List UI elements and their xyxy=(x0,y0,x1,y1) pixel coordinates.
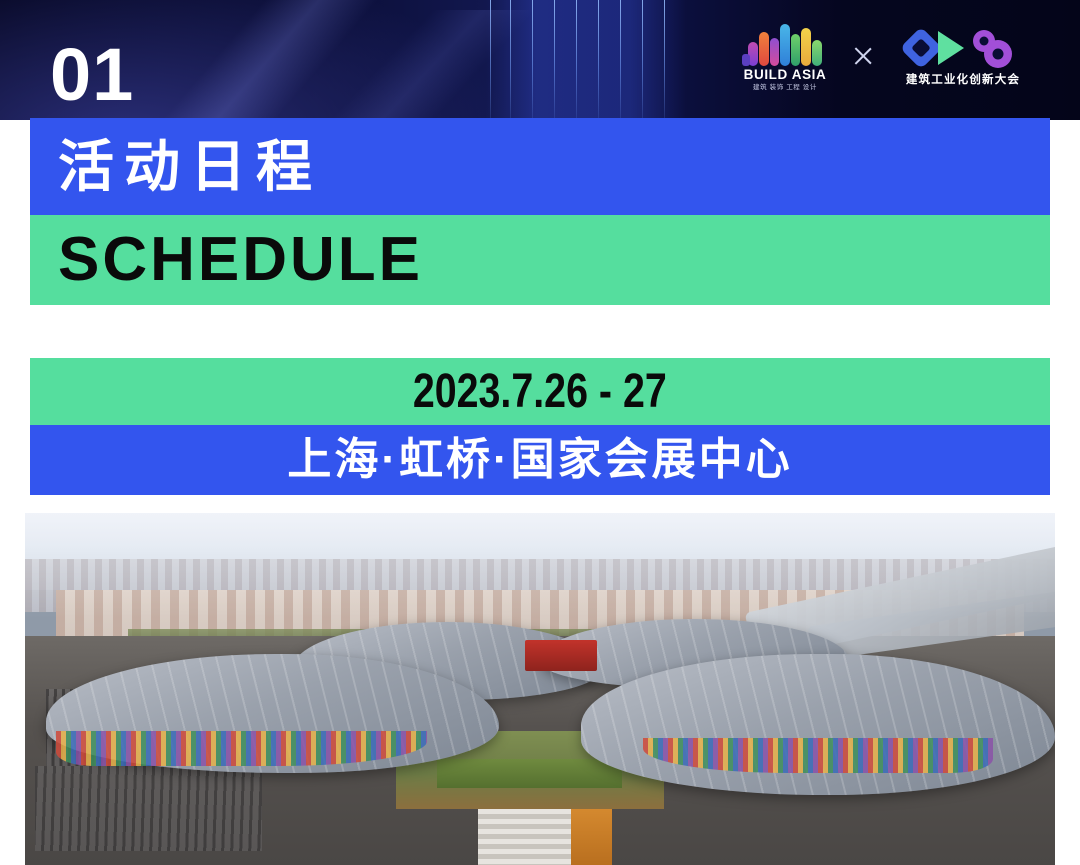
build-asia-tagline: 建筑 装饰 工程 设计 xyxy=(753,84,817,92)
hero-dark-banner: 01 xyxy=(0,0,1080,120)
chinese-title: 活动日程 xyxy=(58,137,322,197)
date-band: 2023.7.26 - 27 xyxy=(30,358,1050,425)
vertical-light-bars xyxy=(486,0,686,120)
conference-wordmark: 建筑工业化创新大会 xyxy=(906,74,1020,87)
event-date: 2023.7.26 - 27 xyxy=(413,367,667,417)
photo-red-central-building xyxy=(525,640,597,672)
section-number: 01 xyxy=(50,38,134,112)
photo-orange-path xyxy=(571,809,612,865)
build-asia-logo[interactable]: BUILD ASIA 建筑 装饰 工程 设计 xyxy=(742,20,828,92)
logo-lockup: BUILD ASIA 建筑 装饰 工程 设计 建筑工业化创新大会 xyxy=(742,20,1028,92)
build-asia-wordmark: BUILD ASIA xyxy=(744,68,827,82)
photo-parking-lot-lower xyxy=(35,766,262,850)
event-venue: 上海·虹桥·国家会展中心 xyxy=(287,436,792,484)
photo-lawn xyxy=(437,759,622,787)
photo-walkway xyxy=(478,809,571,865)
english-title: SCHEDULE xyxy=(58,228,423,292)
venue-aerial-photo xyxy=(25,513,1055,865)
english-title-band: SCHEDULE xyxy=(30,215,1050,305)
chinese-title-band: 活动日程 xyxy=(30,118,1050,215)
industrialization-conference-logo[interactable]: 建筑工业化创新大会 xyxy=(898,25,1028,87)
build-asia-skyline-icon xyxy=(742,20,828,66)
venue-band: 上海·虹桥·国家会展中心 xyxy=(30,425,1050,495)
x-separator-icon xyxy=(850,43,876,69)
industrialization-rings-icon xyxy=(898,25,1028,71)
